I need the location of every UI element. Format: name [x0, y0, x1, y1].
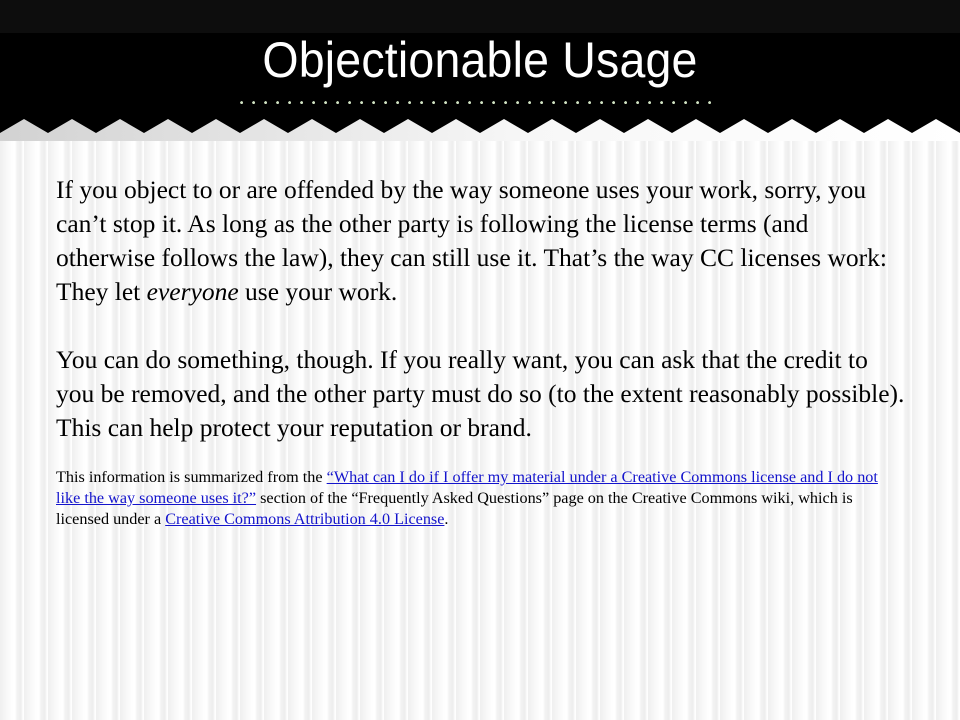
paragraph-1: If you object to or are offended by the … — [56, 173, 906, 309]
paragraph-1-emphasis: everyone — [147, 277, 239, 306]
footnote-run-5: . — [444, 510, 448, 528]
paragraph-2-run-1: You can do something, though. If you rea… — [56, 345, 904, 442]
header-top-strip — [0, 0, 960, 33]
link-cc-by-4-license[interactable]: Creative Commons Attribution 4.0 License — [165, 510, 444, 528]
slide-content: If you object to or are offended by the … — [0, 137, 960, 720]
source-attribution: This information is summarized from the … — [56, 467, 884, 530]
body-copy: If you object to or are offended by the … — [56, 173, 906, 445]
page-title: Objectionable Usage — [34, 30, 927, 90]
slide: Objectionable Usage If you object to or … — [0, 0, 960, 720]
dotted-divider-icon — [240, 101, 720, 105]
paragraph-2: You can do something, though. If you rea… — [56, 343, 906, 445]
footnote-run-1: This information is summarized from the — [56, 468, 327, 486]
paragraph-1-run-3: use your work. — [239, 277, 398, 306]
